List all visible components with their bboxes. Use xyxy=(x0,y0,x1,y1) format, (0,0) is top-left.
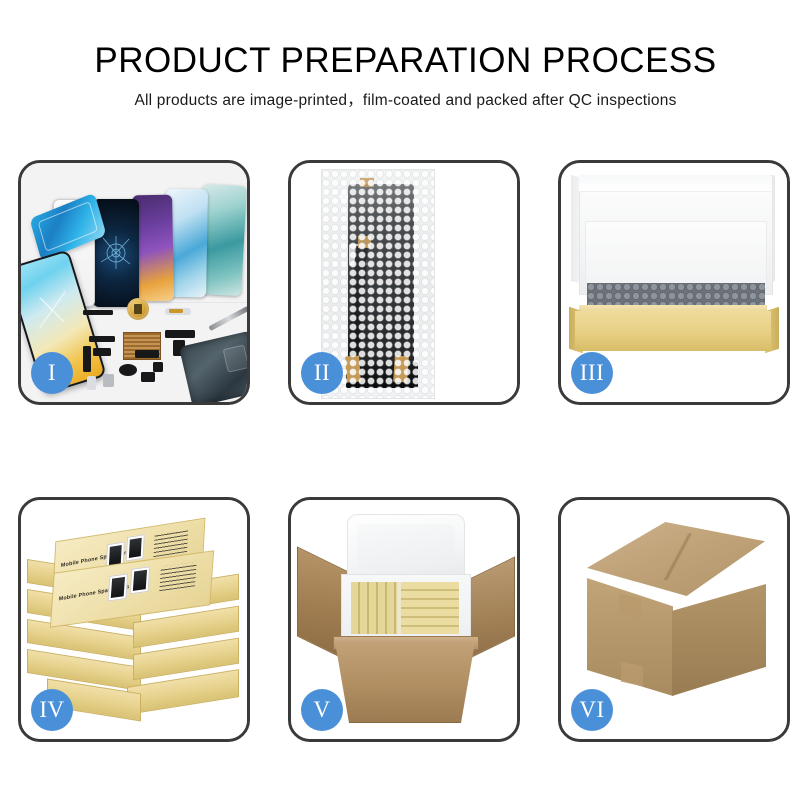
carton-body xyxy=(335,642,475,723)
step-badge-6: VI xyxy=(571,689,613,731)
step-panel-6[interactable]: VI xyxy=(558,497,790,742)
step-badge-1: I xyxy=(31,352,73,394)
step-badge-2: II xyxy=(301,352,343,394)
step-badge-3: III xyxy=(571,352,613,394)
tweezers-icon xyxy=(208,306,247,331)
step-panel-1[interactable]: I xyxy=(18,160,250,405)
box-lid-fold xyxy=(579,175,771,192)
crack-icon xyxy=(99,236,133,270)
yellow-box-front xyxy=(575,311,771,351)
packed-yellow-boxes xyxy=(351,582,459,634)
foam-sheet-icon xyxy=(585,221,767,289)
page-title: PRODUCT PREPARATION PROCESS xyxy=(0,40,811,82)
step-badge-5: V xyxy=(301,689,343,731)
wireless-coil-icon xyxy=(127,298,149,320)
phone-back-cover-icon xyxy=(179,330,247,402)
page-subtitle: All products are image-printed，film-coat… xyxy=(0,90,811,112)
header: PRODUCT PREPARATION PROCESS All products… xyxy=(0,40,811,112)
small-parts-group xyxy=(83,296,247,400)
foam-lid-icon xyxy=(347,514,465,578)
step-panel-3[interactable]: III xyxy=(558,160,790,405)
step-badge-4: IV xyxy=(31,689,73,731)
steps-grid: I II xyxy=(18,160,793,742)
step-panel-2[interactable]: II xyxy=(288,160,520,405)
product-preparation-infographic: PRODUCT PREPARATION PROCESS All products… xyxy=(0,0,811,811)
step-panel-5[interactable]: V xyxy=(288,497,520,742)
step-panel-4[interactable]: Mobile Phone Spare Parts Mobile Phone Sp… xyxy=(18,497,250,742)
